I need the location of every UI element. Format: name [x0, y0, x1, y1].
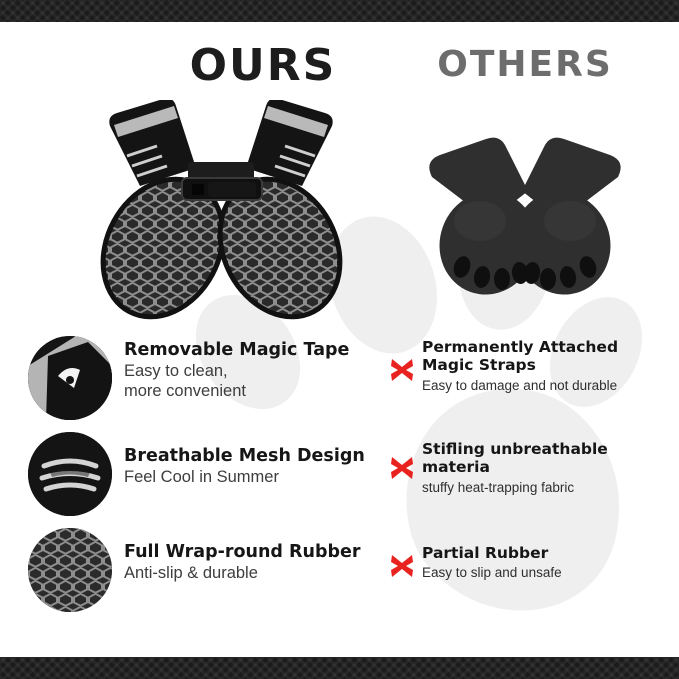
others-feature-text: Permanently Attached Magic Straps Easy t…	[422, 338, 667, 394]
velcro-strap-thumbnail	[28, 336, 112, 420]
feature-row: Full Wrap-round Rubber Anti-slip & durab…	[0, 522, 679, 618]
red-x-icon	[388, 356, 416, 384]
red-x-icon	[388, 454, 416, 482]
ours-feature-text: Breathable Mesh Design Feel Cool in Summ…	[124, 446, 384, 488]
heading-others: OTHERS	[400, 44, 650, 85]
hero-image-others	[410, 125, 640, 305]
ours-feature-title: Full Wrap-round Rubber	[124, 542, 384, 562]
top-texture-bar	[0, 0, 679, 22]
ours-feature-sub: Easy to clean, more convenient	[124, 362, 384, 402]
ours-feature-text: Full Wrap-round Rubber Anti-slip & durab…	[124, 542, 384, 584]
heading-ours: OURS	[128, 40, 398, 91]
others-feature-sub: stuffy heat-trapping fabric	[422, 480, 667, 496]
red-x-icon	[388, 552, 416, 580]
others-feature-title: Partial Rubber	[422, 544, 667, 562]
breathable-mesh-thumbnail	[28, 432, 112, 516]
ours-feature-title: Breathable Mesh Design	[124, 446, 384, 466]
ours-feature-sub: Anti-slip & durable	[124, 564, 384, 584]
ours-feature-title: Removable Magic Tape	[124, 340, 384, 360]
feature-row: Breathable Mesh Design Feel Cool in Summ…	[0, 426, 679, 522]
others-feature-sub: Easy to damage and not durable	[422, 378, 667, 394]
feature-list: Removable Magic Tape Easy to clean, more…	[0, 330, 679, 618]
honeycomb-rubber-thumbnail	[28, 528, 112, 612]
ours-feature-sub: Feel Cool in Summer	[124, 468, 384, 488]
ours-feature-text: Removable Magic Tape Easy to clean, more…	[124, 340, 384, 402]
others-feature-text: Partial Rubber Easy to slip and unsafe	[422, 544, 667, 581]
others-feature-title: Permanently Attached Magic Straps	[422, 338, 667, 375]
comparison-infographic: OURS OTHERS	[0, 0, 679, 679]
others-feature-text: Stifling unbreathable materia stuffy hea…	[422, 440, 667, 496]
bottom-texture-bar	[0, 657, 679, 679]
hero-image-ours	[80, 100, 380, 320]
others-feature-title: Stifling unbreathable materia	[422, 440, 667, 477]
feature-row: Removable Magic Tape Easy to clean, more…	[0, 330, 679, 426]
others-feature-sub: Easy to slip and unsafe	[422, 565, 667, 581]
